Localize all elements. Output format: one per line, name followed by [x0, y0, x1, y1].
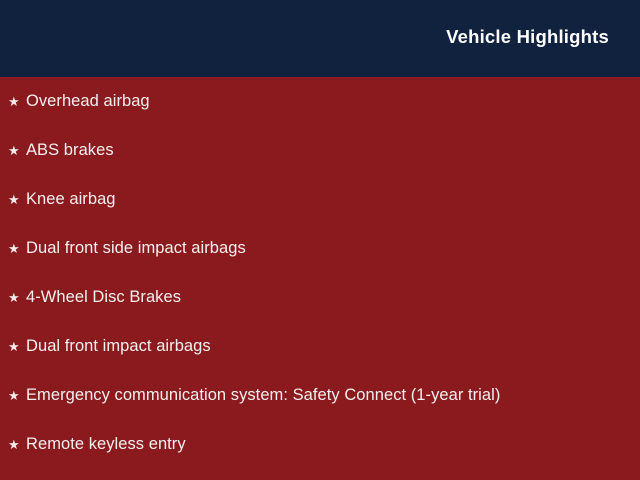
vehicle-highlights-slide: Vehicle Highlights ★ Overhead airbag ★ A… — [0, 0, 640, 480]
list-item: ★ ABS brakes — [0, 126, 640, 175]
star-bullet-icon: ★ — [8, 242, 26, 255]
star-bullet-icon: ★ — [8, 193, 26, 206]
list-item: ★ Dual front side impact airbags — [0, 224, 640, 273]
list-item: ★ Knee airbag — [0, 175, 640, 224]
page-title: Vehicle Highlights — [446, 28, 609, 47]
list-item: ★ Dual front impact airbags — [0, 322, 640, 371]
list-item: ★ Overhead airbag — [0, 77, 640, 126]
vehicle-highlights-list: ★ Overhead airbag ★ ABS brakes ★ Knee ai… — [0, 77, 640, 469]
header-bar: Vehicle Highlights — [0, 0, 640, 77]
star-bullet-icon: ★ — [8, 144, 26, 157]
list-item: ★ Remote keyless entry — [0, 420, 640, 469]
star-bullet-icon: ★ — [8, 389, 26, 402]
feature-label: Emergency communication system: Safety C… — [26, 386, 500, 405]
feature-label: Knee airbag — [26, 190, 116, 209]
feature-label: Overhead airbag — [26, 92, 150, 111]
feature-label: Remote keyless entry — [26, 435, 186, 454]
feature-label: Dual front impact airbags — [26, 337, 211, 356]
feature-label: 4-Wheel Disc Brakes — [26, 288, 181, 307]
star-bullet-icon: ★ — [8, 340, 26, 353]
feature-label: Dual front side impact airbags — [26, 239, 246, 258]
highlights-body: ★ Overhead airbag ★ ABS brakes ★ Knee ai… — [0, 77, 640, 480]
star-bullet-icon: ★ — [8, 291, 26, 304]
feature-label: ABS brakes — [26, 141, 114, 160]
list-item: ★ Emergency communication system: Safety… — [0, 371, 640, 420]
star-bullet-icon: ★ — [8, 438, 26, 451]
list-item: ★ 4-Wheel Disc Brakes — [0, 273, 640, 322]
star-bullet-icon: ★ — [8, 95, 26, 108]
